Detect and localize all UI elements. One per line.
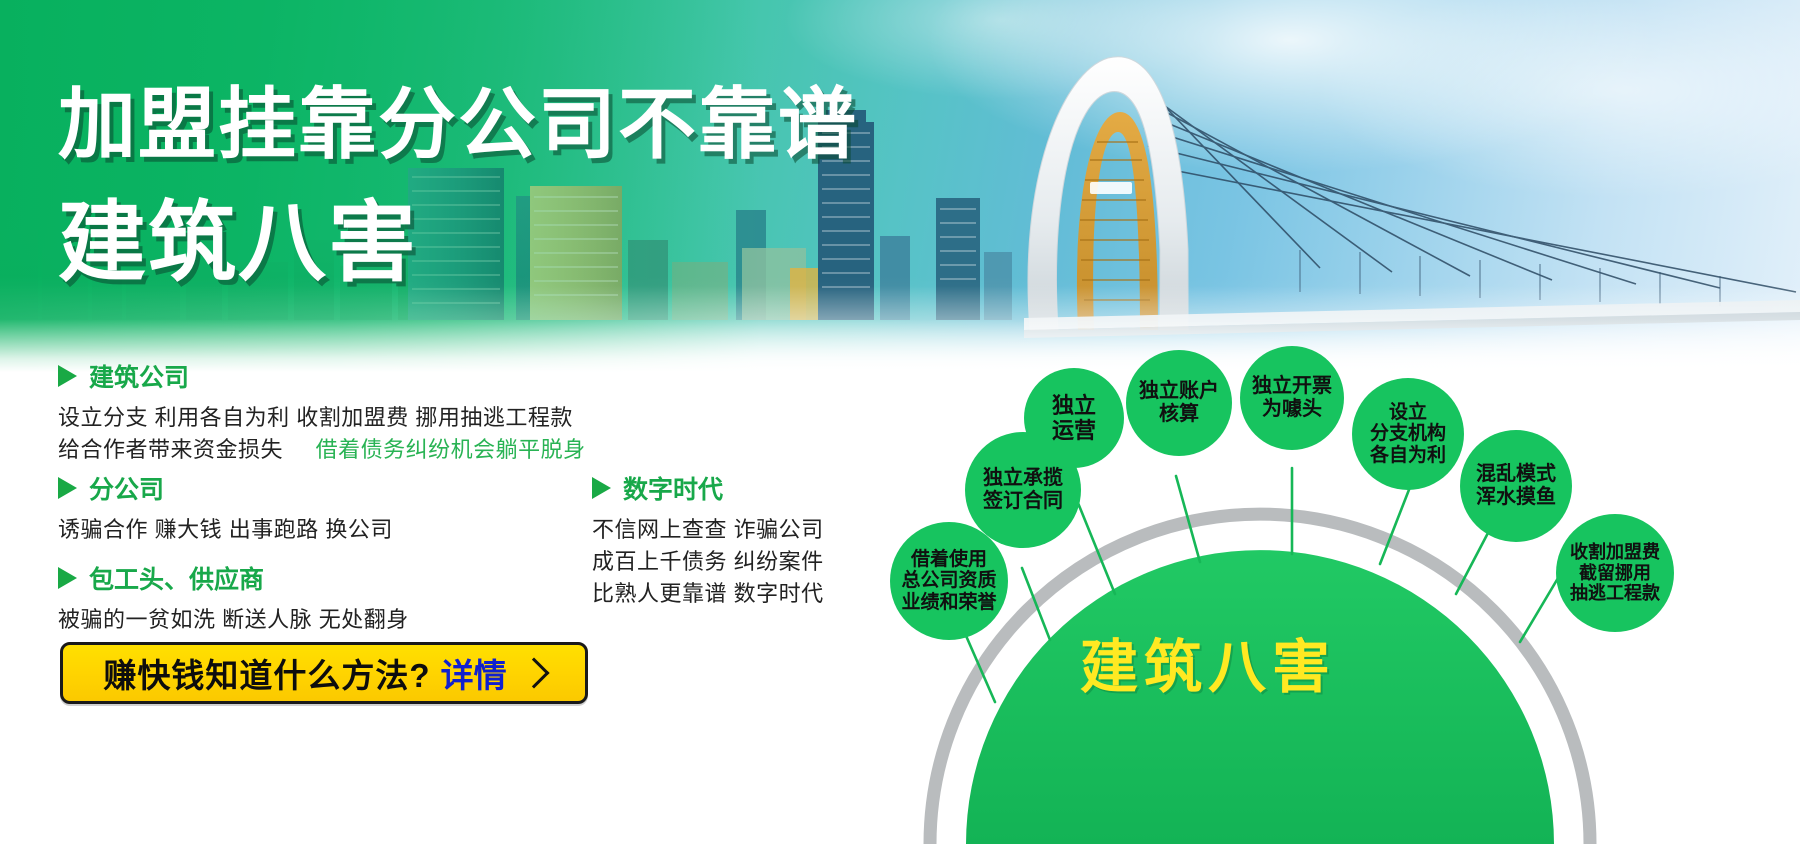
bubble-line: 运营 — [1052, 418, 1096, 443]
section-line-highlight: 借着债务纠纷机会躺平脱身 — [316, 437, 586, 462]
bubble-line: 签订合同 — [983, 490, 1063, 513]
cta-button[interactable]: 赚快钱知道什么方法? 详情 — [60, 642, 588, 704]
bubble-duli-zhanghu[interactable]: 独立账户 核算 — [1126, 350, 1232, 456]
section-line: 不信网上查查 诈骗公司 — [592, 512, 824, 544]
section-heading-branch-company: 分公司 — [58, 470, 164, 506]
section-heading-label: 建筑公司 — [89, 358, 189, 394]
bubble-line: 为噱头 — [1262, 398, 1322, 421]
bubble-line: 混乱模式 — [1476, 463, 1556, 486]
bubble-diagram: 借着使用 总公司资质 业绩和荣誉 独立承揽 签订合同 独立 运营 独立账户 核算… — [900, 372, 1800, 844]
section-line: 被骗的一贫如洗 断送人脉 无处翻身 — [58, 602, 409, 634]
section-line-with-highlight: 给合作者带来资金损失 借着债务纠纷机会躺平脱身 — [58, 432, 586, 464]
triangle-bullet-icon — [58, 365, 77, 387]
bubble-line: 收割加盟费 — [1570, 542, 1660, 563]
chevron-right-icon — [518, 657, 549, 688]
section-heading-digital-era: 数字时代 — [592, 470, 723, 506]
bubble-hunluan-moshi[interactable]: 混乱模式 浑水摸鱼 — [1460, 430, 1572, 542]
bubble-line: 业绩和荣誉 — [901, 592, 996, 614]
bubble-line: 分支机构 — [1370, 423, 1446, 445]
poster-root: 加盟挂靠分公司不靠谱 建筑八害 建筑公司 设立分支 利用各自为利 收割加盟费 挪… — [0, 0, 1800, 844]
section-line-plain: 给合作者带来资金损失 — [58, 437, 283, 462]
bubble-shouge-jiamengfei[interactable]: 收割加盟费 截留挪用 抽逃工程款 — [1556, 514, 1674, 632]
bubble-sheli-fenzhi[interactable]: 设立 分支机构 各自为利 — [1352, 378, 1464, 490]
bubble-line: 独立账户 — [1139, 380, 1219, 403]
bubble-line: 抽逃工程款 — [1570, 583, 1660, 604]
section-heading-label: 包工头、供应商 — [89, 560, 264, 596]
triangle-bullet-icon — [58, 567, 77, 589]
bubble-duli-yunying[interactable]: 独立 运营 — [1024, 368, 1124, 468]
section-line: 成百上千债务 纠纷案件 — [592, 544, 824, 576]
bubble-line: 各自为利 — [1370, 445, 1446, 467]
left-content-pane: 建筑公司 设立分支 利用各自为利 收割加盟费 挪用抽逃工程款 给合作者带来资金损… — [0, 372, 900, 844]
section-heading-contractor-supplier: 包工头、供应商 — [58, 560, 264, 596]
triangle-bullet-icon — [58, 477, 77, 499]
hero-title-line1: 加盟挂靠分公司不靠谱 — [58, 62, 858, 174]
bubble-line: 核算 — [1159, 403, 1199, 426]
bubble-line: 总公司资质 — [901, 570, 996, 592]
bubble-line: 浑水摸鱼 — [1476, 486, 1556, 509]
bubble-duli-kaipiao[interactable]: 独立开票 为噱头 — [1240, 346, 1344, 450]
section-heading-label: 数字时代 — [623, 470, 723, 506]
hero-title-line2: 建筑八害 — [58, 172, 418, 299]
section-heading-construction-company: 建筑公司 — [58, 358, 189, 394]
cta-question-label: 赚快钱知道什么方法? — [103, 649, 430, 697]
bubble-line: 截留挪用 — [1579, 563, 1651, 584]
bubble-line: 独立开票 — [1252, 375, 1332, 398]
bubble-line: 设立 — [1389, 402, 1427, 424]
section-line: 比熟人更靠谱 数字时代 — [592, 576, 824, 608]
section-heading-label: 分公司 — [89, 470, 164, 506]
bubble-jiezhe-shiyong[interactable]: 借着使用 总公司资质 业绩和荣誉 — [890, 522, 1008, 640]
section-line: 诱骗合作 赚大钱 出事跑路 换公司 — [58, 512, 393, 544]
bubble-line: 独立承揽 — [983, 467, 1063, 490]
bubble-line: 独立 — [1052, 393, 1096, 418]
hero-banner: 加盟挂靠分公司不靠谱 建筑八害 — [0, 0, 1800, 372]
cta-detail-link[interactable]: 详情 — [441, 649, 507, 697]
bubble-line: 借着使用 — [911, 549, 987, 571]
dome-center-label: 建筑八害 — [1080, 620, 1336, 704]
section-line: 设立分支 利用各自为利 收割加盟费 挪用抽逃工程款 — [58, 400, 573, 432]
triangle-bullet-icon — [592, 477, 611, 499]
